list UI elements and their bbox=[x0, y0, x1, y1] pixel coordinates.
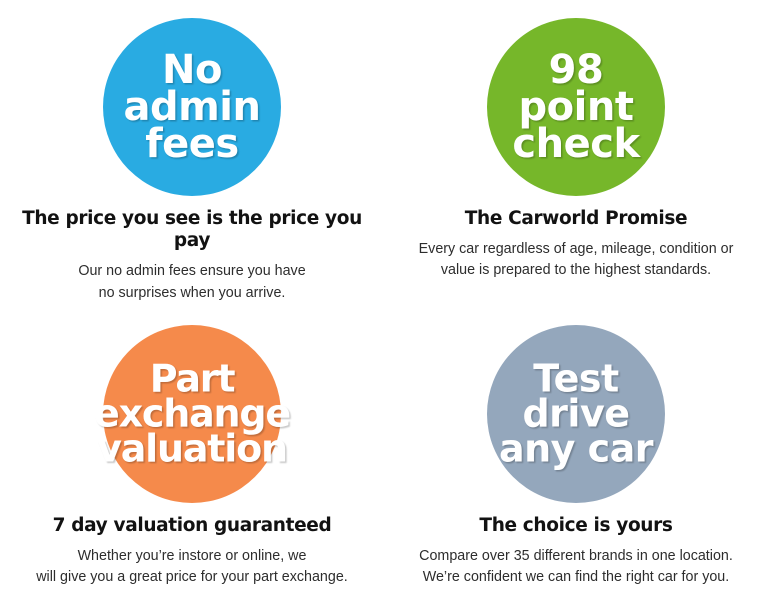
promo-card-part-exchange-valuation: Part exchange valuation 7 day valuation … bbox=[0, 307, 384, 614]
promo-heading-part-exchange-valuation: 7 day valuation guaranteed bbox=[45, 515, 340, 537]
promo-card-no-admin-fees: No admin fees The price you see is the p… bbox=[0, 0, 384, 307]
promo-body-part-exchange-valuation: Whether you’re instore or online, we wil… bbox=[30, 546, 354, 588]
badge-circle-98-point-check: 98 point check bbox=[487, 18, 665, 196]
promo-body-line-1: Our no admin fees ensure you have bbox=[78, 261, 305, 282]
promo-heading-no-admin-fees: The price you see is the price you pay bbox=[0, 208, 384, 252]
promo-heading-98-point-check: The Carworld Promise bbox=[457, 208, 695, 230]
promo-body-line-1: Whether you’re instore or online, we bbox=[36, 546, 348, 567]
promo-body-test-drive-any-car: Compare over 35 different brands in one … bbox=[413, 546, 739, 588]
badge-text-test-drive-any-car: Test drive any car bbox=[461, 362, 691, 467]
promo-body-line-1: Every car regardless of age, mileage, co… bbox=[419, 239, 734, 260]
badge-line-3: check bbox=[461, 125, 691, 162]
promo-body-98-point-check: Every car regardless of age, mileage, co… bbox=[413, 239, 740, 281]
badge-circle-test-drive-any-car: Test drive any car bbox=[487, 325, 665, 503]
promo-body-line-2: We’re confident we can find the right ca… bbox=[419, 567, 733, 588]
promo-body-line-2: will give you a great price for your par… bbox=[36, 567, 348, 588]
badge-line-3: valuation bbox=[77, 431, 307, 466]
promo-body-line-2: no surprises when you arrive. bbox=[78, 283, 305, 304]
promo-body-no-admin-fees: Our no admin fees ensure you have no sur… bbox=[72, 261, 311, 303]
promo-heading-test-drive-any-car: The choice is yours bbox=[471, 515, 680, 537]
badge-circle-no-admin-fees: No admin fees bbox=[103, 18, 281, 196]
promo-body-line-1: Compare over 35 different brands in one … bbox=[419, 546, 733, 567]
badge-line-3: fees bbox=[77, 125, 307, 162]
promo-card-test-drive-any-car: Test drive any car The choice is yours C… bbox=[384, 307, 768, 614]
badge-line-3: any car bbox=[461, 431, 691, 466]
badge-circle-part-exchange-valuation: Part exchange valuation bbox=[103, 325, 281, 503]
badge-text-98-point-check: 98 point check bbox=[461, 52, 691, 162]
promo-card-98-point-check: 98 point check The Carworld Promise Ever… bbox=[384, 0, 768, 307]
badge-text-part-exchange-valuation: Part exchange valuation bbox=[77, 362, 307, 467]
badge-text-no-admin-fees: No admin fees bbox=[77, 52, 307, 162]
promo-body-line-2: value is prepared to the highest standar… bbox=[419, 260, 734, 281]
promo-benefits-grid: No admin fees The price you see is the p… bbox=[0, 0, 768, 614]
